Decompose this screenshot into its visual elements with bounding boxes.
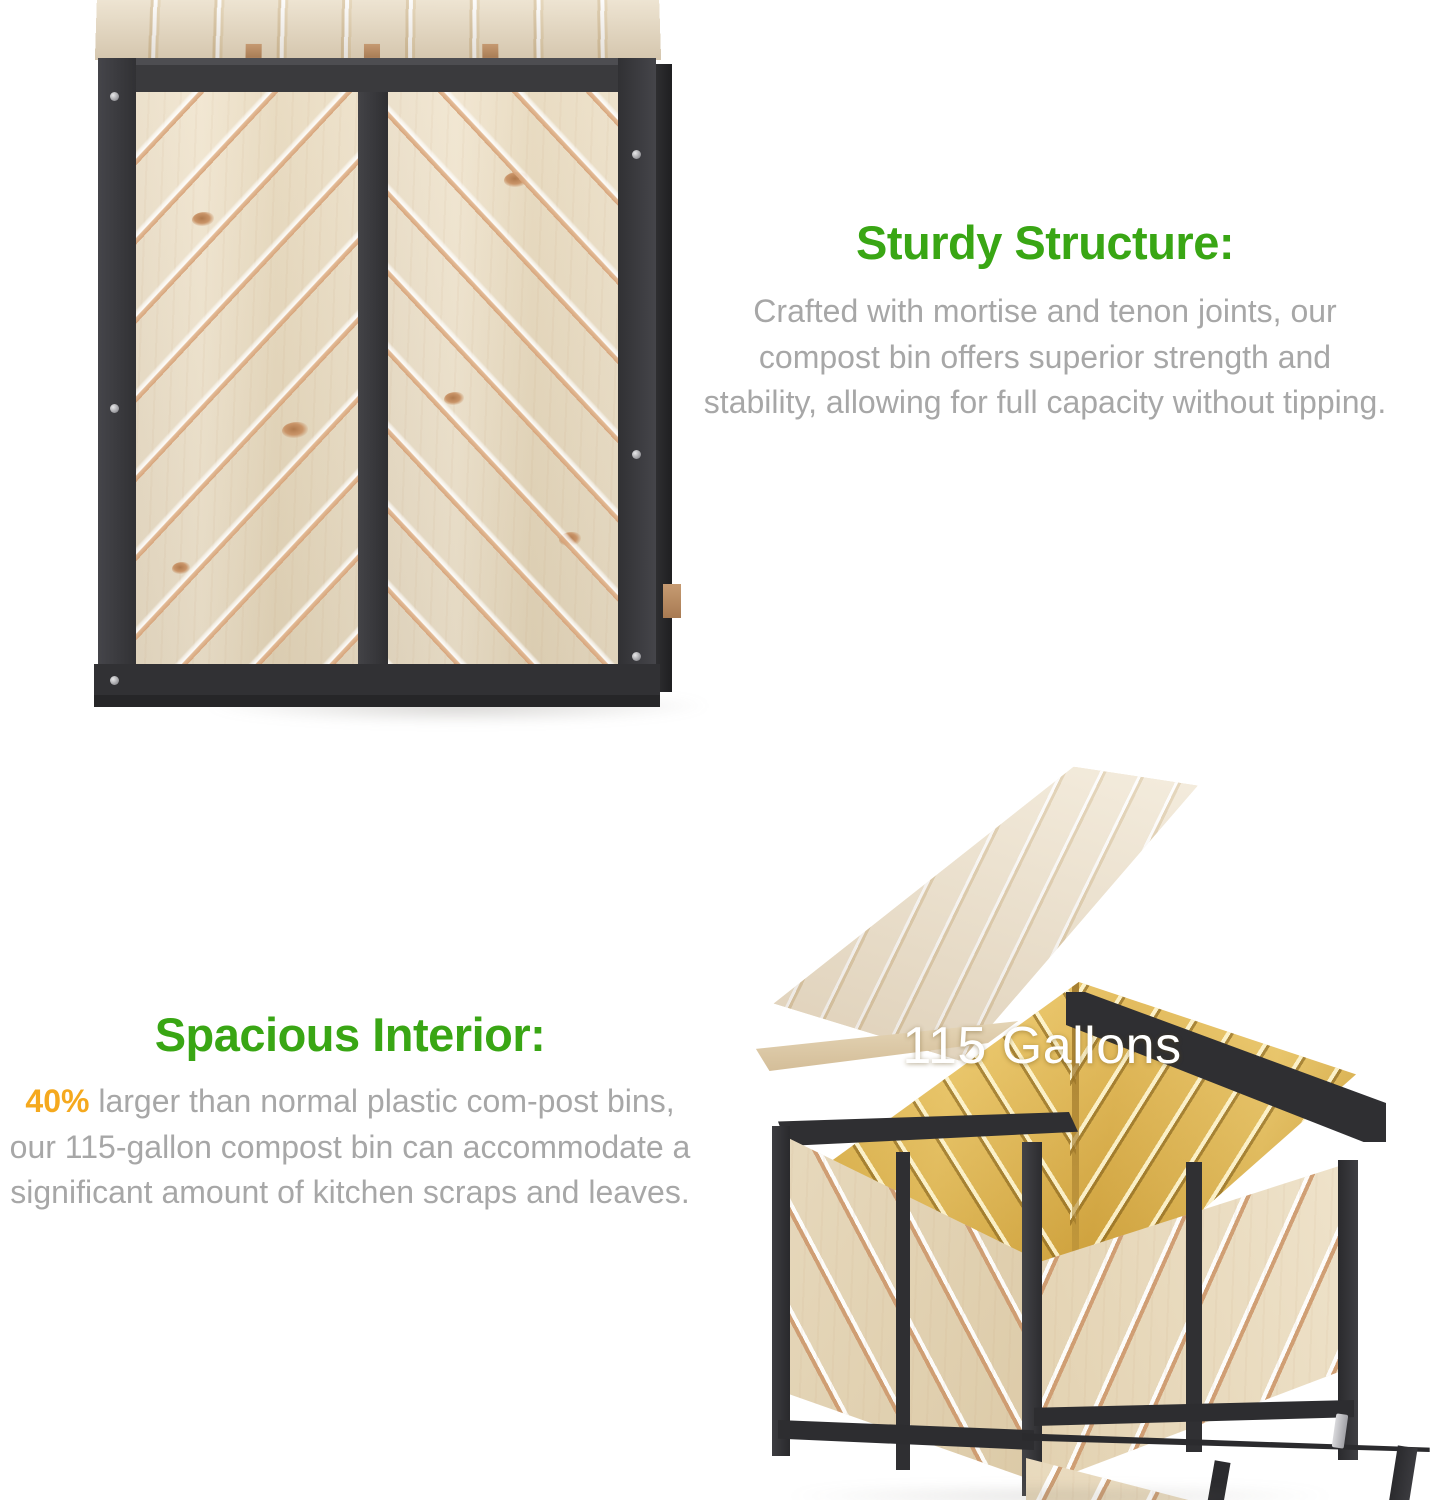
frame-center-stile (358, 92, 388, 687)
frame-screw (110, 92, 119, 101)
feature-body-spacious-interior: 40% larger than normal plastic com-post … (0, 1079, 700, 1215)
feature-block-spacious-interior: Spacious Interior: 40% larger than norma… (0, 1010, 700, 1216)
frame-screw (632, 450, 641, 459)
frame-left-corner-post (772, 1126, 790, 1456)
lid-tenon-peg (364, 44, 380, 58)
feature-body-text: larger than normal plastic com-post bins… (10, 1083, 691, 1210)
frame-base-shadow (94, 695, 660, 707)
wood-panel-left-chevron (132, 92, 364, 670)
stat-highlight-percentage: 40% (25, 1083, 89, 1119)
feature-block-sturdy-structure: Sturdy Structure: Crafted with mortise a… (700, 218, 1390, 426)
compost-bin-open-perspective (726, 760, 1433, 1500)
frame-rear-leg (1374, 1445, 1417, 1500)
feature-body-sturdy-structure: Crafted with mortise and tenon joints, o… (700, 289, 1390, 425)
frame-screw (110, 404, 119, 413)
bin-lid-slatted-top (95, 0, 661, 60)
lid-tenon-peg (482, 44, 498, 58)
feature-heading-sturdy-structure: Sturdy Structure: (700, 218, 1390, 267)
wood-panel-right-chevron (384, 92, 624, 670)
bin-perspective-floor-shadow (780, 1488, 1340, 1500)
compost-bin-front-view (88, 0, 668, 732)
lid-tenon-peg (246, 44, 262, 58)
product-feature-graphic: Sturdy Structure: Crafted with mortise a… (0, 0, 1433, 1500)
mortise-tenon-peg (663, 584, 681, 618)
feature-heading-spacious-interior: Spacious Interior: (0, 1010, 700, 1059)
frame-left-post (98, 58, 136, 698)
frame-left-stile (896, 1152, 910, 1470)
capacity-caption-115-gallons: 115 Gallons (862, 1016, 1222, 1076)
frame-screw (632, 150, 641, 159)
frame-screw (632, 652, 641, 661)
frame-screw (110, 676, 119, 685)
